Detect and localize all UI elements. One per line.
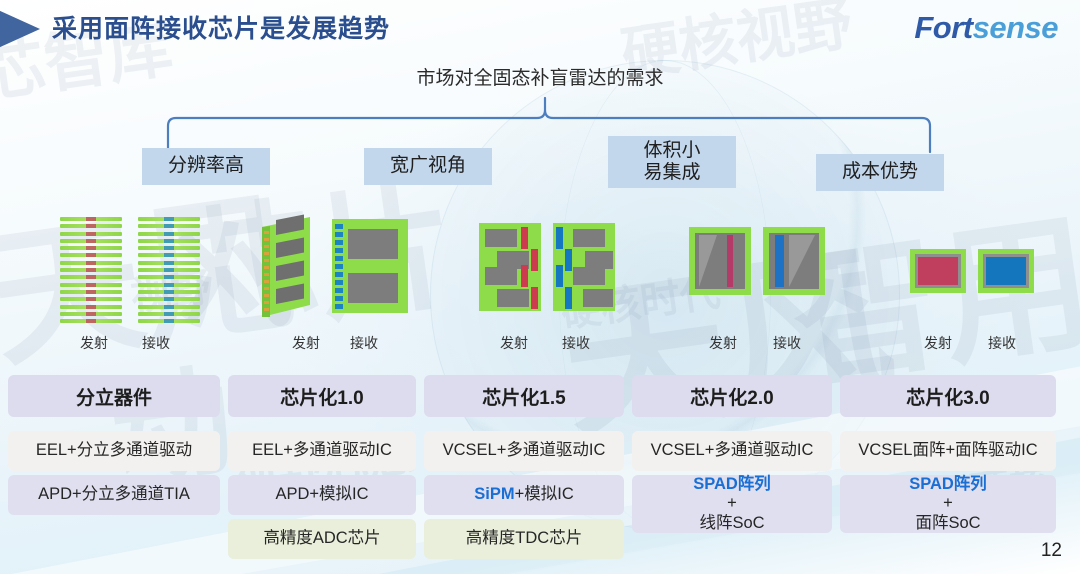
receiver-bar-stack (138, 217, 200, 326)
market-demand-label: 市场对全固态补盲雷达的需求 (0, 63, 1080, 90)
emitter-bar-stack (60, 217, 122, 326)
table-cell: APD+分立多通道TIA (8, 475, 220, 515)
category-label: 宽广视角 (390, 155, 466, 177)
illustration-column-chip15: 发射 接收 (455, 205, 635, 370)
cell-text: 高精度ADC芯片 (263, 529, 380, 548)
table-cell: EEL+分立多通道驱动 (8, 431, 220, 471)
illustration-column-chip10: 发射 接收 (240, 205, 430, 370)
transmit-label: 发射 (709, 333, 737, 353)
receiver-board (553, 223, 615, 311)
table-cell: SPAD阵列+线阵SoC (632, 475, 832, 533)
table-cell: SPAD阵列+面阵SoC (840, 475, 1056, 533)
category-box-cost: 成本优势 (816, 154, 944, 191)
highlighted-term: SPAD阵列 (909, 475, 987, 493)
cell-text: VCSEL面阵+面阵驱动IC (858, 441, 1037, 460)
slide-canvas: 天风 芯片 动 天风 智用 芯智库 硬核视野 视野芯态 硬核时代 视野硬核 视野… (0, 0, 1080, 574)
emitter-linear-chip (689, 227, 751, 295)
logo-primary-text: Fort (914, 10, 972, 45)
highlighted-term: SiPM (474, 485, 514, 503)
pair-labels: 发射 接收 (20, 333, 230, 353)
illustration-column-chip20: 发射 接收 (665, 205, 845, 370)
discrete-array-illustration (20, 205, 230, 330)
category-label: 体积小 易集成 (643, 140, 700, 185)
table-cell: SiPM+模拟IC (424, 475, 624, 515)
cell-text: EEL+多通道驱动IC (252, 441, 392, 460)
transmit-label: 发射 (80, 333, 108, 353)
column-header: 芯片化2.0 (632, 375, 832, 417)
cell-text: 高精度TDC芯片 (466, 529, 582, 548)
cell-text: APD+分立多通道TIA (38, 485, 190, 504)
page-title: 采用面阵接收芯片是发展趋势 (52, 10, 390, 48)
receive-label: 接收 (142, 333, 170, 353)
triangle-bullet-icon (0, 9, 40, 49)
fortsense-logo: Fortsense (914, 11, 1058, 45)
category-label: 分辨率高 (168, 155, 244, 177)
table-column-chip30: 芯片化3.0 VCSEL面阵+面阵驱动IC SPAD阵列+面阵SoC (840, 375, 1056, 533)
table-column-chip10: 芯片化1.0 EEL+多通道驱动IC APD+模拟IC 高精度ADC芯片 (228, 375, 416, 559)
cell-text: EEL+分立多通道驱动 (36, 441, 192, 460)
slide-header: 采用面阵接收芯片是发展趋势 Fortsense (0, 0, 1080, 58)
pair-labels: 发射 接收 (240, 333, 430, 353)
category-box-resolution: 分辨率高 (142, 148, 270, 185)
receiver-board-flat (332, 219, 408, 313)
chip15-illustration (455, 205, 635, 330)
cell-text: SPAD阵列+面阵SoC (909, 475, 987, 532)
pair-labels: 发射 接收 (665, 333, 845, 353)
page-number: 12 (1041, 540, 1062, 562)
pair-labels: 发射 接收 (880, 333, 1060, 353)
table-cell: VCSEL+多通道驱动IC (424, 431, 624, 471)
receive-label: 接收 (773, 333, 801, 353)
cell-text: SiPM+模拟IC (474, 485, 573, 504)
table-cell: 高精度ADC芯片 (228, 519, 416, 559)
table-column-chip15: 芯片化1.5 VCSEL+多通道驱动IC SiPM+模拟IC 高精度TDC芯片 (424, 375, 624, 559)
transmit-label: 发射 (292, 333, 320, 353)
receive-label: 接收 (988, 333, 1016, 353)
table-cell: VCSEL+多通道驱动IC (632, 431, 832, 471)
emitter-board-3d (262, 215, 310, 317)
receiver-area-array (978, 249, 1034, 293)
highlighted-term: SPAD阵列 (693, 475, 771, 493)
chip20-illustration (665, 205, 845, 330)
transmit-label: 发射 (924, 333, 952, 353)
chip30-illustration (880, 205, 1060, 330)
cell-text: VCSEL+多通道驱动IC (443, 441, 606, 460)
column-header: 芯片化1.5 (424, 375, 624, 417)
receive-label: 接收 (562, 333, 590, 353)
column-header: 分立器件 (8, 375, 220, 417)
emitter-area-array (910, 249, 966, 293)
category-box-size: 体积小 易集成 (608, 136, 736, 188)
cell-text: SPAD阵列+线阵SoC (693, 475, 771, 532)
table-cell: APD+模拟IC (228, 475, 416, 515)
table-cell: EEL+多通道驱动IC (228, 431, 416, 471)
receive-label: 接收 (350, 333, 378, 353)
illustration-column-chip30: 发射 接收 (880, 205, 1060, 370)
chip10-illustration (240, 205, 430, 330)
column-header: 芯片化3.0 (840, 375, 1056, 417)
emitter-board (479, 223, 541, 311)
column-header: 芯片化1.0 (228, 375, 416, 417)
table-column-chip20: 芯片化2.0 VCSEL+多通道驱动IC SPAD阵列+线阵SoC (632, 375, 832, 533)
cell-text: VCSEL+多通道驱动IC (651, 441, 814, 460)
table-column-discrete: 分立器件 EEL+分立多通道驱动 APD+分立多通道TIA (8, 375, 220, 515)
illustration-column-discrete: 发射 接收 (20, 205, 230, 370)
table-cell: VCSEL面阵+面阵驱动IC (840, 431, 1056, 471)
cell-text: APD+模拟IC (275, 485, 368, 504)
receiver-array-chip (763, 227, 825, 295)
transmit-label: 发射 (500, 333, 528, 353)
table-cell: 高精度TDC芯片 (424, 519, 624, 559)
category-box-fov: 宽广视角 (364, 148, 492, 185)
pair-labels: 发射 接收 (455, 333, 635, 353)
category-label: 成本优势 (842, 161, 918, 183)
logo-secondary-text: sense (973, 10, 1058, 45)
